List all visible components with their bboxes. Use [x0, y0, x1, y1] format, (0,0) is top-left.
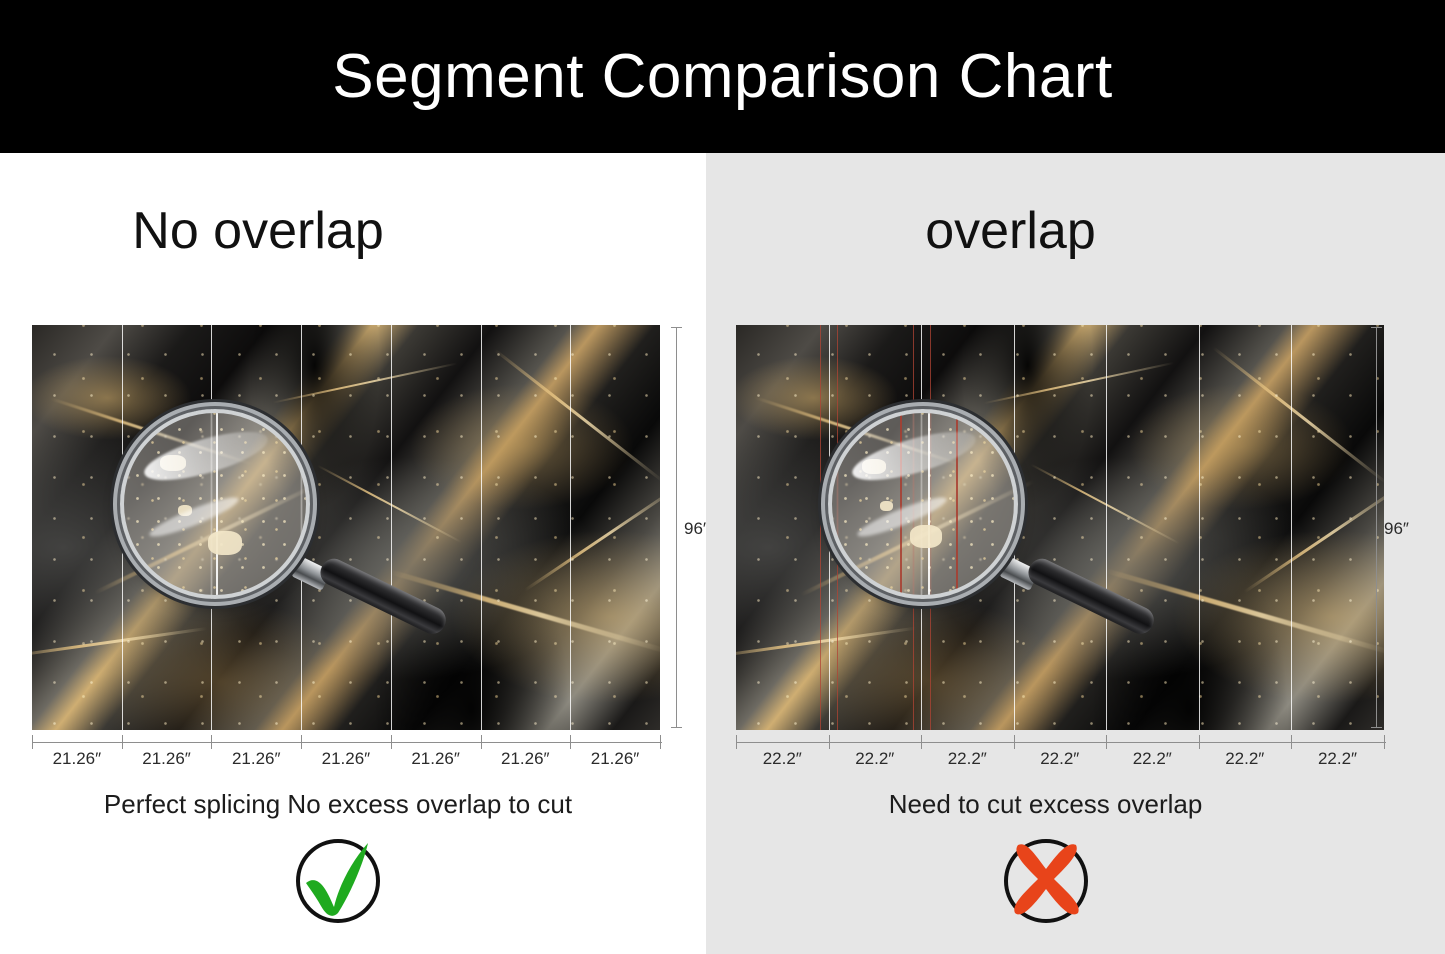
segment-label: 21.26″: [570, 749, 660, 769]
segment-label: 21.26″: [32, 749, 122, 769]
segment-label: 22.2″: [921, 749, 1014, 769]
verdict-no-overlap: [0, 839, 706, 923]
cross-icon: [994, 827, 1098, 931]
comparison-chart-page: Segment Comparison Chart No overlap: [0, 0, 1445, 954]
panels-container: No overlap: [0, 153, 1445, 954]
segment-dimension-line-right: [736, 742, 1386, 743]
panel-heading-no-overlap: No overlap: [0, 201, 706, 261]
caption-no-overlap: Perfect splicing No excess overlap to cu…: [0, 789, 706, 820]
segment-label: 22.2″: [1014, 749, 1107, 769]
segment-label: 21.26″: [391, 749, 481, 769]
segment-label: 22.2″: [1199, 749, 1292, 769]
segment-label: 21.26″: [301, 749, 391, 769]
title-bar: Segment Comparison Chart: [0, 0, 1445, 153]
segment-label: 21.26″: [480, 749, 570, 769]
segment-label: 22.2″: [1291, 749, 1384, 769]
segment-labels-right: 22.2″ 22.2″ 22.2″ 22.2″ 22.2″ 22.2″ 22.2…: [736, 749, 1384, 769]
check-icon: [286, 827, 390, 931]
seam-lines-left: [32, 325, 660, 730]
segment-label: 21.26″: [211, 749, 301, 769]
panel-no-overlap: No overlap: [0, 153, 706, 954]
cross-badge: [1004, 839, 1088, 923]
verdict-overlap: [706, 839, 1445, 923]
panel-heading-overlap: overlap: [706, 201, 1445, 261]
panel-overlap: overlap: [706, 153, 1445, 954]
check-badge: [296, 839, 380, 923]
segment-label: 22.2″: [829, 749, 922, 769]
height-dimension-label-right: 96″: [1384, 519, 1409, 539]
segment-label: 22.2″: [736, 749, 829, 769]
height-dimension-line-left: [676, 327, 677, 728]
mural-no-overlap: [32, 325, 660, 730]
segment-label: 21.26″: [122, 749, 212, 769]
page-title: Segment Comparison Chart: [332, 41, 1112, 112]
caption-overlap: Need to cut excess overlap: [706, 789, 1445, 820]
seam-lines-right: [736, 325, 1384, 730]
segment-label: 22.2″: [1106, 749, 1199, 769]
segment-dimension-line-left: [32, 742, 662, 743]
segment-labels-left: 21.26″ 21.26″ 21.26″ 21.26″ 21.26″ 21.26…: [32, 749, 660, 769]
mural-overlap: [736, 325, 1384, 730]
height-dimension-line-right: [1376, 327, 1377, 728]
